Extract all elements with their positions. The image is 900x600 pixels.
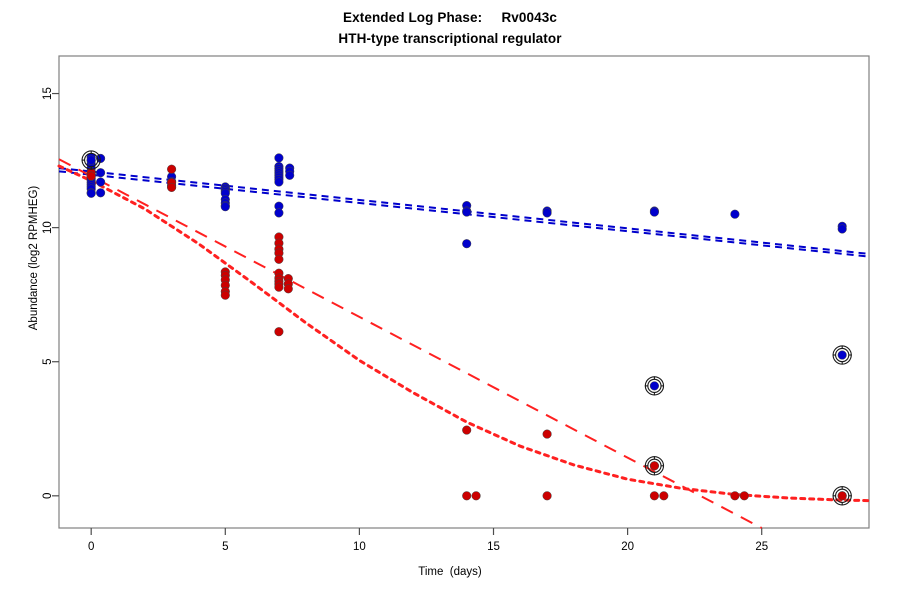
red-trend-curve (59, 166, 869, 501)
highlight-dot (650, 382, 659, 391)
data-point (96, 189, 105, 198)
highlight-dot (650, 461, 659, 470)
x-tick-label: 25 (755, 541, 768, 553)
data-point (221, 291, 230, 300)
data-point (731, 210, 740, 219)
data-point (543, 209, 552, 218)
data-point (462, 239, 471, 248)
data-point (167, 165, 176, 174)
data-point (167, 183, 176, 192)
x-tick-label: 0 (88, 541, 94, 553)
x-tick-label: 5 (222, 541, 228, 553)
data-point (275, 283, 284, 292)
data-point (275, 209, 284, 218)
data-point (275, 327, 284, 336)
y-tick-label: 15 (42, 87, 54, 100)
data-point (275, 154, 284, 163)
highlight-marker (833, 486, 852, 505)
data-point (660, 492, 669, 501)
x-tick-label: 15 (487, 541, 500, 553)
highlight-marker (645, 376, 664, 395)
plot-border (59, 56, 869, 528)
data-point (284, 285, 293, 294)
data-points (87, 153, 847, 500)
data-point (731, 492, 740, 501)
data-point (221, 202, 230, 211)
plot-frame (59, 56, 869, 528)
data-point (462, 426, 471, 435)
data-point (543, 492, 552, 501)
highlight-marker (833, 345, 852, 364)
y-tick-label: 10 (42, 221, 54, 234)
data-point (650, 208, 659, 217)
data-point (96, 178, 105, 187)
highlight-dot (87, 156, 96, 165)
data-point (87, 172, 96, 181)
y-tick-label: 5 (42, 359, 54, 365)
x-tick-label: 20 (621, 541, 634, 553)
chart-canvas: Extended Log Phase: Rv0043c HTH-type tra… (0, 0, 900, 600)
data-point (275, 255, 284, 264)
data-point (462, 208, 471, 217)
data-point (275, 178, 284, 187)
x-tick-label: 10 (353, 541, 366, 553)
highlight-marker (645, 456, 664, 475)
data-point (285, 171, 294, 180)
data-point (543, 430, 552, 439)
data-point (462, 492, 471, 501)
data-point (472, 492, 481, 501)
data-point (650, 492, 659, 501)
data-point (96, 168, 105, 177)
highlight-dot (838, 351, 847, 360)
y-tick-label: 0 (42, 493, 54, 499)
data-point (838, 225, 847, 234)
data-point (87, 189, 96, 198)
data-point (740, 492, 749, 501)
highlight-marker (82, 151, 101, 170)
plot-svg: 0510152025051015 (0, 0, 900, 600)
highlight-dot (838, 492, 847, 501)
